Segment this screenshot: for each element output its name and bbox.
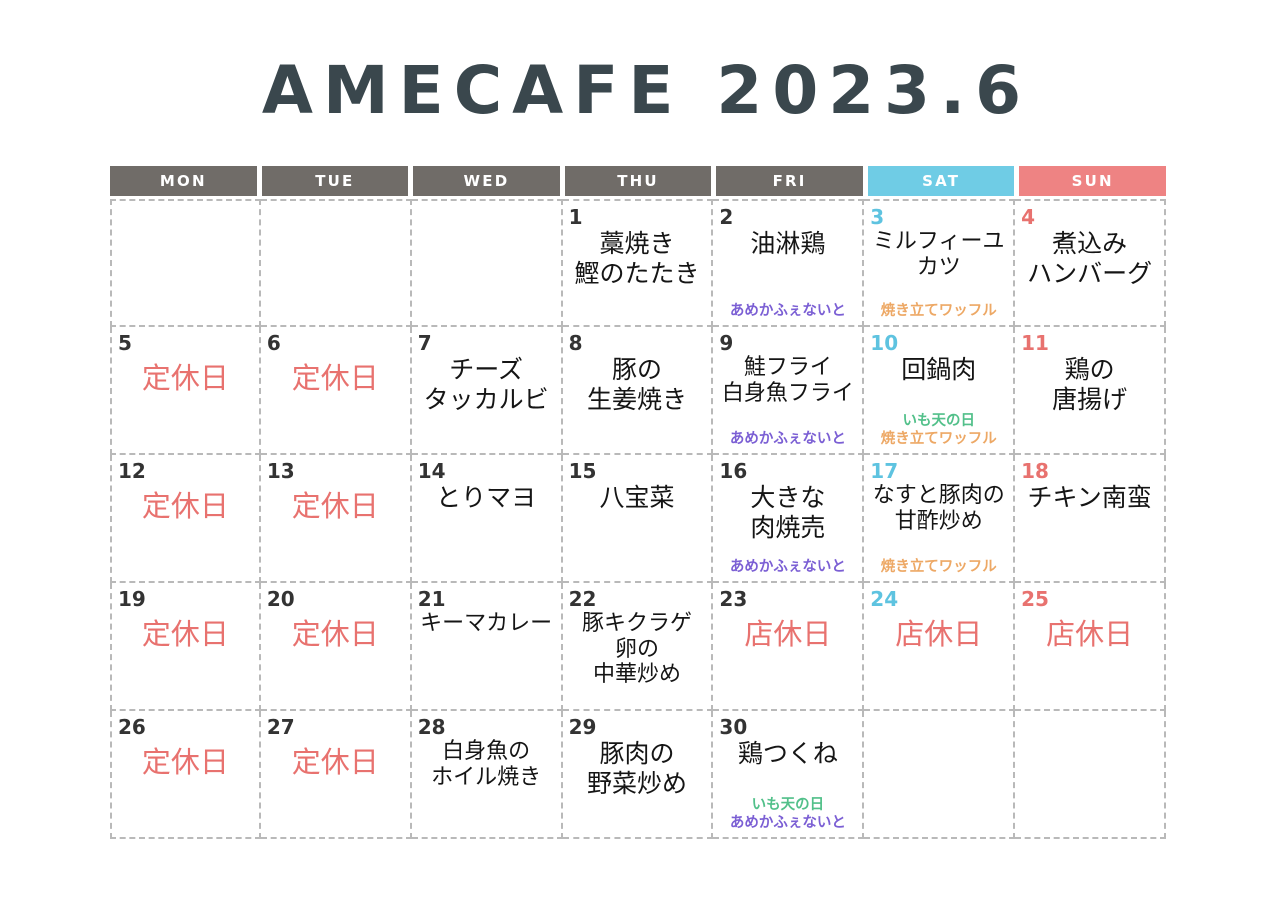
day-cell-26[interactable]: 26定休日: [110, 711, 261, 839]
day-content: 豚キクラゲ卵の中華炒め: [569, 610, 706, 705]
menu-text: とりマヨ: [436, 483, 536, 513]
day-content: 白身魚のホイル焼き: [418, 738, 555, 833]
day-number: 9: [719, 333, 856, 354]
menu-text: なすと豚肉の甘酢炒め: [873, 483, 1005, 534]
day-number: 26: [118, 717, 253, 738]
day-number: 6: [267, 333, 404, 354]
day-cell-21[interactable]: 21キーマカレー: [412, 583, 563, 711]
menu-text: 油淋鶏: [750, 229, 825, 259]
closed-label: 定休日: [292, 355, 379, 395]
closed-label: 店休日: [1046, 611, 1133, 651]
day-number: 17: [870, 461, 1007, 482]
day-number: 23: [719, 589, 856, 610]
day-content: [1021, 738, 1158, 833]
day-cell-30[interactable]: 30鶏つくねいも天の日あめかふぇないと: [713, 711, 864, 839]
event-tag: 焼き立てワッフル: [881, 558, 997, 576]
day-content: 定休日: [267, 354, 404, 449]
day-number: 27: [267, 717, 404, 738]
weekday-header-tue: TUE: [262, 166, 409, 196]
day-cell-29[interactable]: 29豚肉の野菜炒め: [563, 711, 714, 839]
day-cell-5[interactable]: 5定休日: [110, 327, 261, 455]
day-number: 15: [569, 461, 706, 482]
event-tag: あめかふぇないと: [730, 558, 846, 576]
day-number: 2: [719, 207, 856, 228]
menu-text: 鮭フライ白身魚フライ: [722, 355, 854, 406]
day-content: チキン南蛮: [1021, 482, 1158, 577]
day-number: 7: [418, 333, 555, 354]
day-cell-7[interactable]: 7チーズタッカルビ: [412, 327, 563, 455]
event-tag: いも天の日: [902, 412, 975, 430]
day-content: [418, 228, 555, 321]
day-number: 5: [118, 333, 253, 354]
event-tag: 焼き立てワッフル: [881, 302, 997, 320]
day-cell-empty[interactable]: [261, 199, 412, 327]
day-content: キーマカレー: [418, 610, 555, 705]
event-tag: あめかふぇないと: [730, 302, 846, 320]
day-cell-2[interactable]: 2油淋鶏あめかふぇないと: [713, 199, 864, 327]
day-number: 25: [1021, 589, 1158, 610]
day-content: なすと豚肉の甘酢炒め焼き立てワッフル: [870, 482, 1007, 577]
day-content: 煮込みハンバーグ: [1021, 228, 1158, 321]
event-tags: いも天の日あめかふぇないと: [719, 796, 856, 833]
day-number: 3: [870, 207, 1007, 228]
day-number: 12: [118, 461, 253, 482]
menu-text: 回鍋肉: [901, 355, 976, 385]
menu-text: 大きな肉焼売: [750, 483, 825, 542]
menu-text: 白身魚のホイル焼き: [431, 739, 541, 790]
day-cell-4[interactable]: 4煮込みハンバーグ: [1015, 199, 1166, 327]
day-content: 鶏の唐揚げ: [1021, 354, 1158, 449]
event-tags: あめかふぇないと: [719, 302, 856, 321]
day-cell-1[interactable]: 1藁焼き鰹のたたき: [563, 199, 714, 327]
day-cell-20[interactable]: 20定休日: [261, 583, 412, 711]
menu-text: チーズタッカルビ: [424, 355, 549, 414]
menu-text: 豚キクラゲ卵の中華炒め: [582, 611, 692, 688]
menu-text: 鶏の唐揚げ: [1052, 355, 1127, 414]
day-content: 店休日: [870, 610, 1007, 705]
day-content: 定休日: [267, 610, 404, 705]
day-cell-16[interactable]: 16大きな肉焼売あめかふぇないと: [713, 455, 864, 583]
closed-label: 定休日: [292, 739, 379, 779]
day-number: 19: [118, 589, 253, 610]
closed-label: 定休日: [142, 739, 229, 779]
day-content: 定休日: [267, 738, 404, 833]
day-cell-14[interactable]: 14とりマヨ: [412, 455, 563, 583]
closed-label: 店休日: [895, 611, 982, 651]
day-content: ミルフィーユカツ焼き立てワッフル: [870, 228, 1007, 321]
day-content: 定休日: [118, 354, 253, 449]
menu-text: 藁焼き鰹のたたき: [574, 229, 699, 288]
day-cell-12[interactable]: 12定休日: [110, 455, 261, 583]
menu-text: ミルフィーユカツ: [873, 229, 1005, 280]
day-cell-17[interactable]: 17なすと豚肉の甘酢炒め焼き立てワッフル: [864, 455, 1015, 583]
event-tags: あめかふぇないと: [719, 558, 856, 577]
weekday-header-sun: SUN: [1019, 166, 1166, 196]
event-tag: 焼き立てワッフル: [881, 430, 997, 448]
day-content: [870, 738, 1007, 833]
day-content: チーズタッカルビ: [418, 354, 555, 449]
menu-text: 煮込みハンバーグ: [1027, 229, 1152, 288]
menu-text: 鶏つくね: [738, 739, 838, 769]
menu-text: チキン南蛮: [1027, 483, 1151, 513]
menu-text: 豚の生姜焼き: [587, 355, 687, 414]
day-number: 21: [418, 589, 555, 610]
day-cell-15[interactable]: 15八宝菜: [563, 455, 714, 583]
day-cell-empty[interactable]: [412, 199, 563, 327]
day-cell-18[interactable]: 18チキン南蛮: [1015, 455, 1166, 583]
weekday-header-thu: THU: [565, 166, 712, 196]
day-number: 18: [1021, 461, 1158, 482]
day-content: 鶏つくねいも天の日あめかふぇないと: [719, 738, 856, 833]
day-cell-13[interactable]: 13定休日: [261, 455, 412, 583]
day-number: 24: [870, 589, 1007, 610]
day-number: 1: [569, 207, 706, 228]
event-tags: 焼き立てワッフル: [870, 302, 1007, 321]
event-tag: いも天の日: [752, 796, 825, 814]
day-number: 10: [870, 333, 1007, 354]
day-content: 定休日: [267, 482, 404, 577]
day-content: 油淋鶏あめかふぇないと: [719, 228, 856, 321]
closed-label: 店休日: [744, 611, 831, 651]
day-number: 30: [719, 717, 856, 738]
day-content: 定休日: [118, 610, 253, 705]
day-cell-empty[interactable]: [110, 199, 261, 327]
menu-text: 豚肉の野菜炒め: [587, 739, 687, 798]
page-title: AMECAFE 2023.6: [0, 0, 1281, 124]
day-cell-8[interactable]: 8豚の生姜焼き: [563, 327, 714, 455]
menu-text: 八宝菜: [599, 483, 674, 513]
day-cell-10[interactable]: 10回鍋肉いも天の日焼き立てワッフル: [864, 327, 1015, 455]
day-content: [118, 228, 253, 321]
day-content: 店休日: [1021, 610, 1158, 705]
weekday-header-sat: SAT: [868, 166, 1015, 196]
day-content: 豚の生姜焼き: [569, 354, 706, 449]
calendar-grid: 1藁焼き鰹のたたき2油淋鶏あめかふぇないと3ミルフィーユカツ焼き立てワッフル4煮…: [110, 199, 1166, 839]
closed-label: 定休日: [292, 483, 379, 523]
day-cell-24[interactable]: 24店休日: [864, 583, 1015, 711]
day-number: 4: [1021, 207, 1158, 228]
closed-label: 定休日: [142, 355, 229, 395]
day-cell-6[interactable]: 6定休日: [261, 327, 412, 455]
day-content: 鮭フライ白身魚フライあめかふぇないと: [719, 354, 856, 449]
day-cell-22[interactable]: 22豚キクラゲ卵の中華炒め: [563, 583, 714, 711]
weekday-header-wed: WED: [413, 166, 560, 196]
day-cell-27[interactable]: 27定休日: [261, 711, 412, 839]
day-cell-25[interactable]: 25店休日: [1015, 583, 1166, 711]
day-number: 14: [418, 461, 555, 482]
day-number: 20: [267, 589, 404, 610]
day-cell-3[interactable]: 3ミルフィーユカツ焼き立てワッフル: [864, 199, 1015, 327]
day-cell-28[interactable]: 28白身魚のホイル焼き: [412, 711, 563, 839]
day-content: 店休日: [719, 610, 856, 705]
event-tags: あめかふぇないと: [719, 430, 856, 449]
calendar-page: AMECAFE 2023.6 MONTUEWEDTHUFRISATSUN 1藁焼…: [0, 0, 1281, 915]
day-cell-empty[interactable]: [1015, 711, 1166, 839]
weekday-header-mon: MON: [110, 166, 257, 196]
day-content: 豚肉の野菜炒め: [569, 738, 706, 833]
event-tag: あめかふぇないと: [730, 814, 846, 832]
day-content: 八宝菜: [569, 482, 706, 577]
calendar: MONTUEWEDTHUFRISATSUN 1藁焼き鰹のたたき2油淋鶏あめかふぇ…: [110, 166, 1166, 839]
weekday-header-fri: FRI: [716, 166, 863, 196]
day-number: 29: [569, 717, 706, 738]
event-tag: あめかふぇないと: [730, 430, 846, 448]
event-tags: 焼き立てワッフル: [870, 558, 1007, 577]
day-content: 藁焼き鰹のたたき: [569, 228, 706, 321]
day-number: 8: [569, 333, 706, 354]
closed-label: 定休日: [142, 483, 229, 523]
day-number: 13: [267, 461, 404, 482]
menu-text: キーマカレー: [420, 611, 552, 637]
day-number: 16: [719, 461, 856, 482]
day-cell-23[interactable]: 23店休日: [713, 583, 864, 711]
day-content: 大きな肉焼売あめかふぇないと: [719, 482, 856, 577]
day-content: [267, 228, 404, 321]
day-cell-empty[interactable]: [864, 711, 1015, 839]
day-cell-9[interactable]: 9鮭フライ白身魚フライあめかふぇないと: [713, 327, 864, 455]
closed-label: 定休日: [292, 611, 379, 651]
day-content: とりマヨ: [418, 482, 555, 577]
day-number: 28: [418, 717, 555, 738]
day-content: 回鍋肉いも天の日焼き立てワッフル: [870, 354, 1007, 449]
day-cell-19[interactable]: 19定休日: [110, 583, 261, 711]
weekday-header-row: MONTUEWEDTHUFRISATSUN: [110, 166, 1166, 196]
day-number: 22: [569, 589, 706, 610]
closed-label: 定休日: [142, 611, 229, 651]
day-content: 定休日: [118, 738, 253, 833]
day-content: 定休日: [118, 482, 253, 577]
day-number: 11: [1021, 333, 1158, 354]
day-cell-11[interactable]: 11鶏の唐揚げ: [1015, 327, 1166, 455]
event-tags: いも天の日焼き立てワッフル: [870, 412, 1007, 449]
